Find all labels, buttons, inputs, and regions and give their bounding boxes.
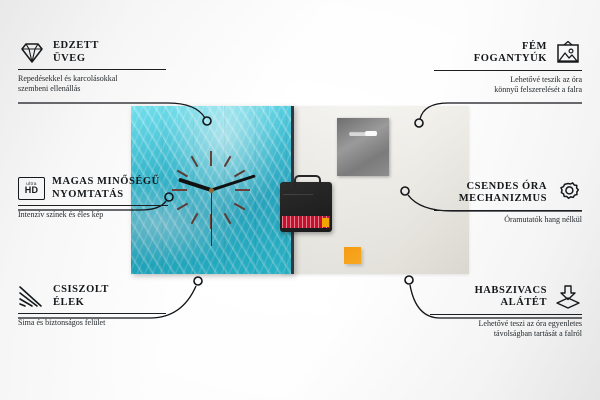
ultra-hd-badge-main: HD (25, 186, 38, 195)
callout-description: Lehetővé teszi az óra egyenletes távolsá… (430, 319, 582, 339)
callout-title: MAGAS MINŐSÉGŰ NYOMTATÁS (52, 176, 160, 201)
callout-header: ultra HD MAGAS MINŐSÉGŰ NYOMTATÁS (18, 176, 168, 201)
diamond-icon (18, 41, 46, 65)
callout-rule (434, 210, 582, 211)
callout-rule (18, 69, 166, 70)
connector-tempered-glass (18, 103, 205, 118)
callout-title: FÉM FOGANTYÚK (474, 41, 547, 66)
callout-header: HABSZIVACS ALÁTÉT (430, 284, 582, 310)
callout-description: Óramutatók hang nélkül (434, 215, 582, 225)
callout-foam-backing: HABSZIVACS ALÁTÉT Lehetővé teszi az óra … (430, 284, 582, 339)
callout-header: EDZETT ÜVEG (18, 40, 166, 65)
callout-header: FÉM FOGANTYÚK (434, 40, 582, 66)
callout-rule (434, 70, 582, 71)
callout-rule (18, 205, 168, 206)
callout-rule (430, 314, 582, 315)
callout-title: EDZETT ÜVEG (53, 40, 99, 65)
callout-header: CSISZOLT ÉLEK (18, 284, 166, 309)
callout-title: CSENDES ÓRA MECHANIZMUS (459, 181, 547, 206)
callout-title: CSISZOLT ÉLEK (53, 284, 109, 309)
arrow-onto-pad-icon (554, 284, 582, 310)
connector-dot-tempered-glass (203, 117, 211, 125)
gear-icon (554, 180, 582, 206)
callout-high-quality-print: ultra HD MAGAS MINŐSÉGŰ NYOMTATÁS Intenz… (18, 176, 168, 220)
callout-description: Intenzív színek és éles kép (18, 210, 168, 220)
callout-description: Lehetővé teszik az óra könnyű felszerelé… (434, 75, 582, 95)
connector-dot-silent-mechanism (401, 187, 409, 195)
callout-description: Sima és biztonságos felület (18, 318, 166, 328)
connector-dot-polished-edges (194, 277, 202, 285)
connector-dot-foam-backing (405, 276, 413, 284)
picture-frame-icon (554, 40, 582, 66)
callout-metal-handles: FÉM FOGANTYÚK Lehetővé teszik az óra kön… (434, 40, 582, 95)
callout-polished-edges: CSISZOLT ÉLEK Sima és biztonságos felüle… (18, 284, 166, 328)
callout-title: HABSZIVACS ALÁTÉT (475, 285, 547, 310)
connector-metal-handles (420, 103, 582, 119)
callout-header: CSENDES ÓRA MECHANIZMUS (434, 180, 582, 206)
bevel-lines-icon (18, 285, 46, 309)
ultra-hd-badge-icon: ultra HD (18, 177, 45, 200)
callout-rule (18, 313, 166, 314)
callout-tempered-glass: EDZETT ÜVEG Repedésekkel és karcolásokka… (18, 40, 166, 94)
callout-silent-mechanism: CSENDES ÓRA MECHANIZMUS Óramutatók hang … (434, 180, 582, 225)
infographic-canvas: EDZETT ÜVEG Repedésekkel és karcolásokka… (0, 0, 600, 400)
callout-description: Repedésekkel és karcolásokkal szembeni e… (18, 74, 166, 94)
connector-dot-metal-handles (415, 119, 423, 127)
